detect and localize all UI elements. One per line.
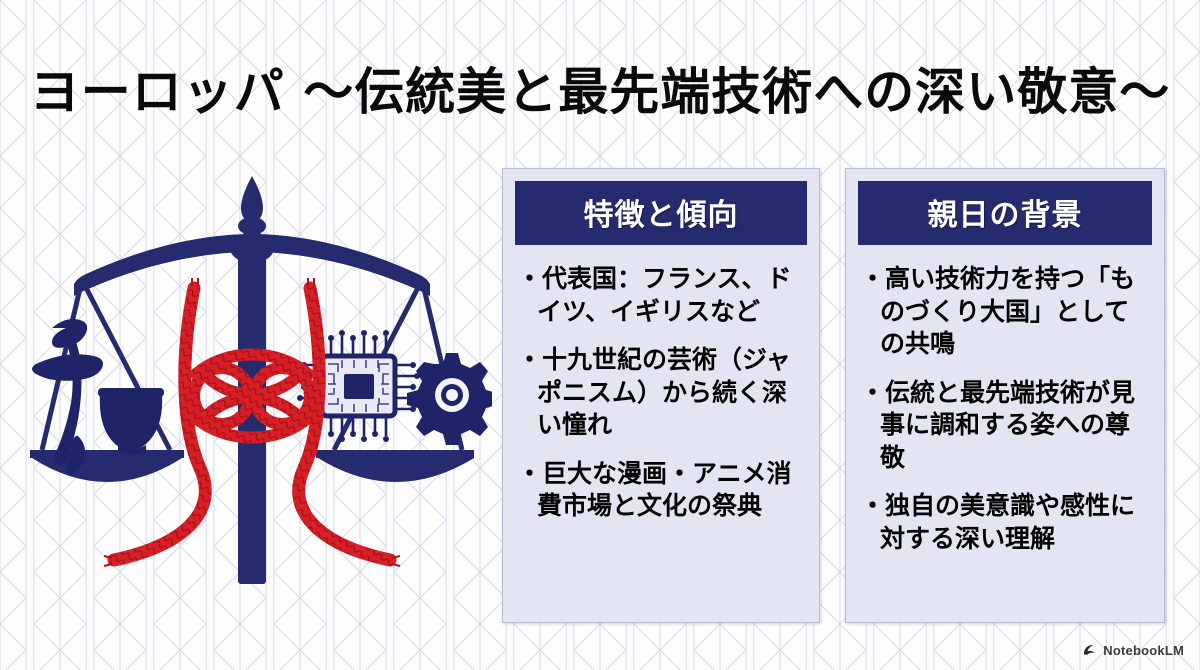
footer-label: NotebookLM bbox=[1103, 643, 1184, 658]
list-item: ・高い技術力を持つ「ものづくり大国」としての共鳴 bbox=[860, 263, 1150, 361]
card-background-body: ・高い技術力を持つ「ものづくり大国」としての共鳴 ・伝統と最先端技術が見事に調和… bbox=[846, 245, 1164, 565]
list-item: ・十九世紀の芸術（ジャポニスム）から続く深い憧れ bbox=[517, 344, 805, 442]
notebooklm-logo-icon bbox=[1082, 643, 1097, 658]
card-features-body: ・代表国：フランス、ドイツ、イギリスなど ・十九世紀の芸術（ジャポニスム）から続… bbox=[503, 245, 819, 533]
tea-bowl-icon bbox=[98, 388, 164, 455]
card-background-header: 親日の背景 bbox=[858, 181, 1152, 245]
slide-canvas: ヨーロッパ ～伝統美と最先端技術への深い敬意～ bbox=[0, 0, 1200, 670]
list-item: ・代表国：フランス、ドイツ、イギリスなど bbox=[517, 263, 805, 328]
card-background: 親日の背景 ・高い技術力を持つ「ものづくり大国」としての共鳴 ・伝統と最先端技術… bbox=[845, 168, 1165, 623]
card-features: 特徴と傾向 ・代表国：フランス、ドイツ、イギリスなど ・十九世紀の芸術（ジャポニ… bbox=[502, 168, 820, 623]
list-item: ・独自の美意識や感性に対する深い理解 bbox=[860, 490, 1150, 555]
scale-pan-right bbox=[316, 450, 474, 482]
list-item: ・伝統と最先端技術が見事に調和する姿への尊敬 bbox=[860, 377, 1150, 475]
card-features-header: 特徴と傾向 bbox=[515, 181, 807, 245]
gear-icon bbox=[407, 353, 492, 445]
list-item: ・巨大な漫画・アニメ消費市場と文化の祭典 bbox=[517, 458, 805, 523]
scale-pan-left bbox=[30, 450, 184, 482]
balance-scale-illustration bbox=[22, 168, 492, 618]
footer-branding: NotebookLM bbox=[1082, 643, 1184, 658]
page-title: ヨーロッパ ～伝統美と最先端技術への深い敬意～ bbox=[0, 52, 1200, 124]
